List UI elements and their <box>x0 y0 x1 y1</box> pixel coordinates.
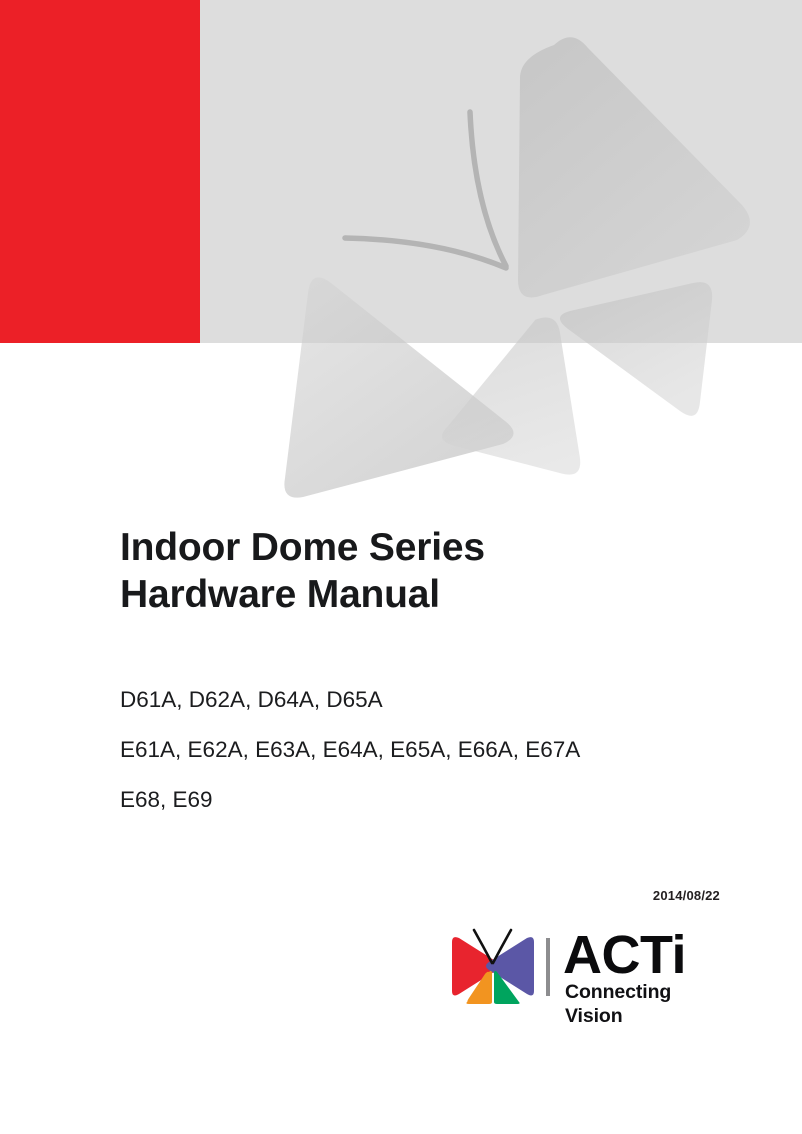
acti-butterfly-icon <box>445 928 541 1006</box>
title-line-1: Indoor Dome Series <box>120 524 760 571</box>
model-line-e-series-b: E68, E69 <box>120 775 780 825</box>
acti-logo: ACTi Connecting Vision <box>445 928 725 1010</box>
logo-wing-purple <box>486 937 534 995</box>
model-line-d-series: D61A, D62A, D64A, D65A <box>120 675 780 725</box>
model-line-e-series-a: E61A, E62A, E63A, E64A, E65A, E66A, E67A <box>120 725 780 775</box>
page-title: Indoor Dome Series Hardware Manual <box>120 524 760 618</box>
brand-wordmark: ACTi <box>563 926 686 984</box>
document-date: 2014/08/22 <box>653 888 720 903</box>
brand-tagline: Connecting Vision <box>565 980 725 1028</box>
header-red-block <box>0 0 200 343</box>
logo-divider <box>546 938 550 996</box>
model-list: D61A, D62A, D64A, D65A E61A, E62A, E63A,… <box>120 675 780 825</box>
title-line-2: Hardware Manual <box>120 571 760 618</box>
document-cover-page: Indoor Dome Series Hardware Manual D61A,… <box>0 0 802 1134</box>
